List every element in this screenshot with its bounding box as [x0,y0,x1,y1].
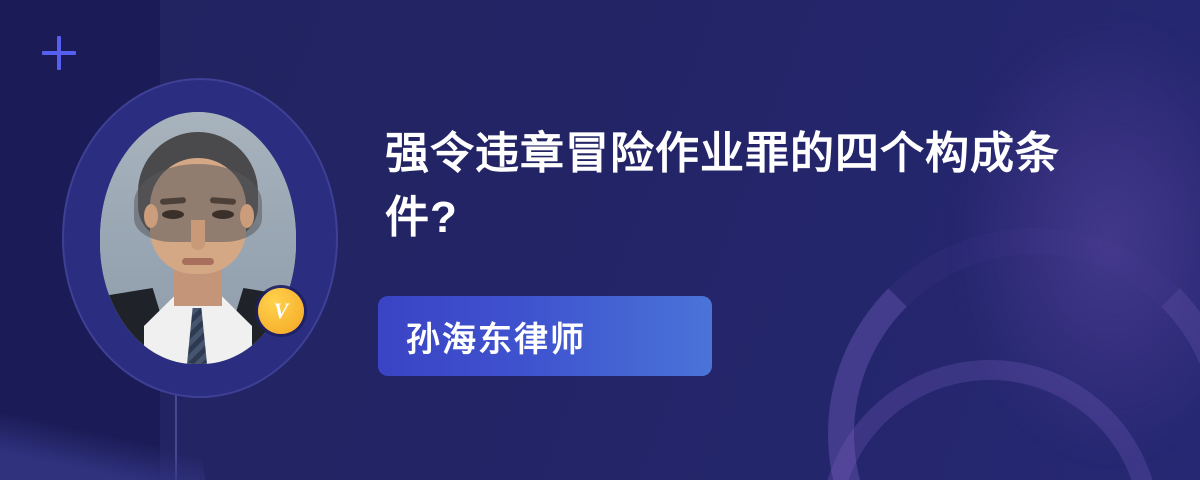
avatar-mouth [182,258,214,265]
plus-icon [42,36,76,70]
promo-card: V 强令违章冒险作业罪的四个构成条件? 孙海东律师 [0,0,1200,480]
author-chip[interactable]: 孙海东律师 [378,296,712,376]
avatar: V [62,78,338,398]
avatar-ear-right [240,204,254,228]
avatar-nose [191,220,205,250]
verified-badge-letter: V [274,300,289,322]
avatar-neck [174,270,222,306]
author-name: 孙海东律师 [406,312,586,361]
avatar-eye-left [162,210,184,219]
page-title: 强令违章冒险作业罪的四个构成条件? [385,122,1105,250]
avatar-eye-right [212,210,234,219]
avatar-ear-left [144,204,158,228]
verified-badge-icon: V [258,288,304,334]
